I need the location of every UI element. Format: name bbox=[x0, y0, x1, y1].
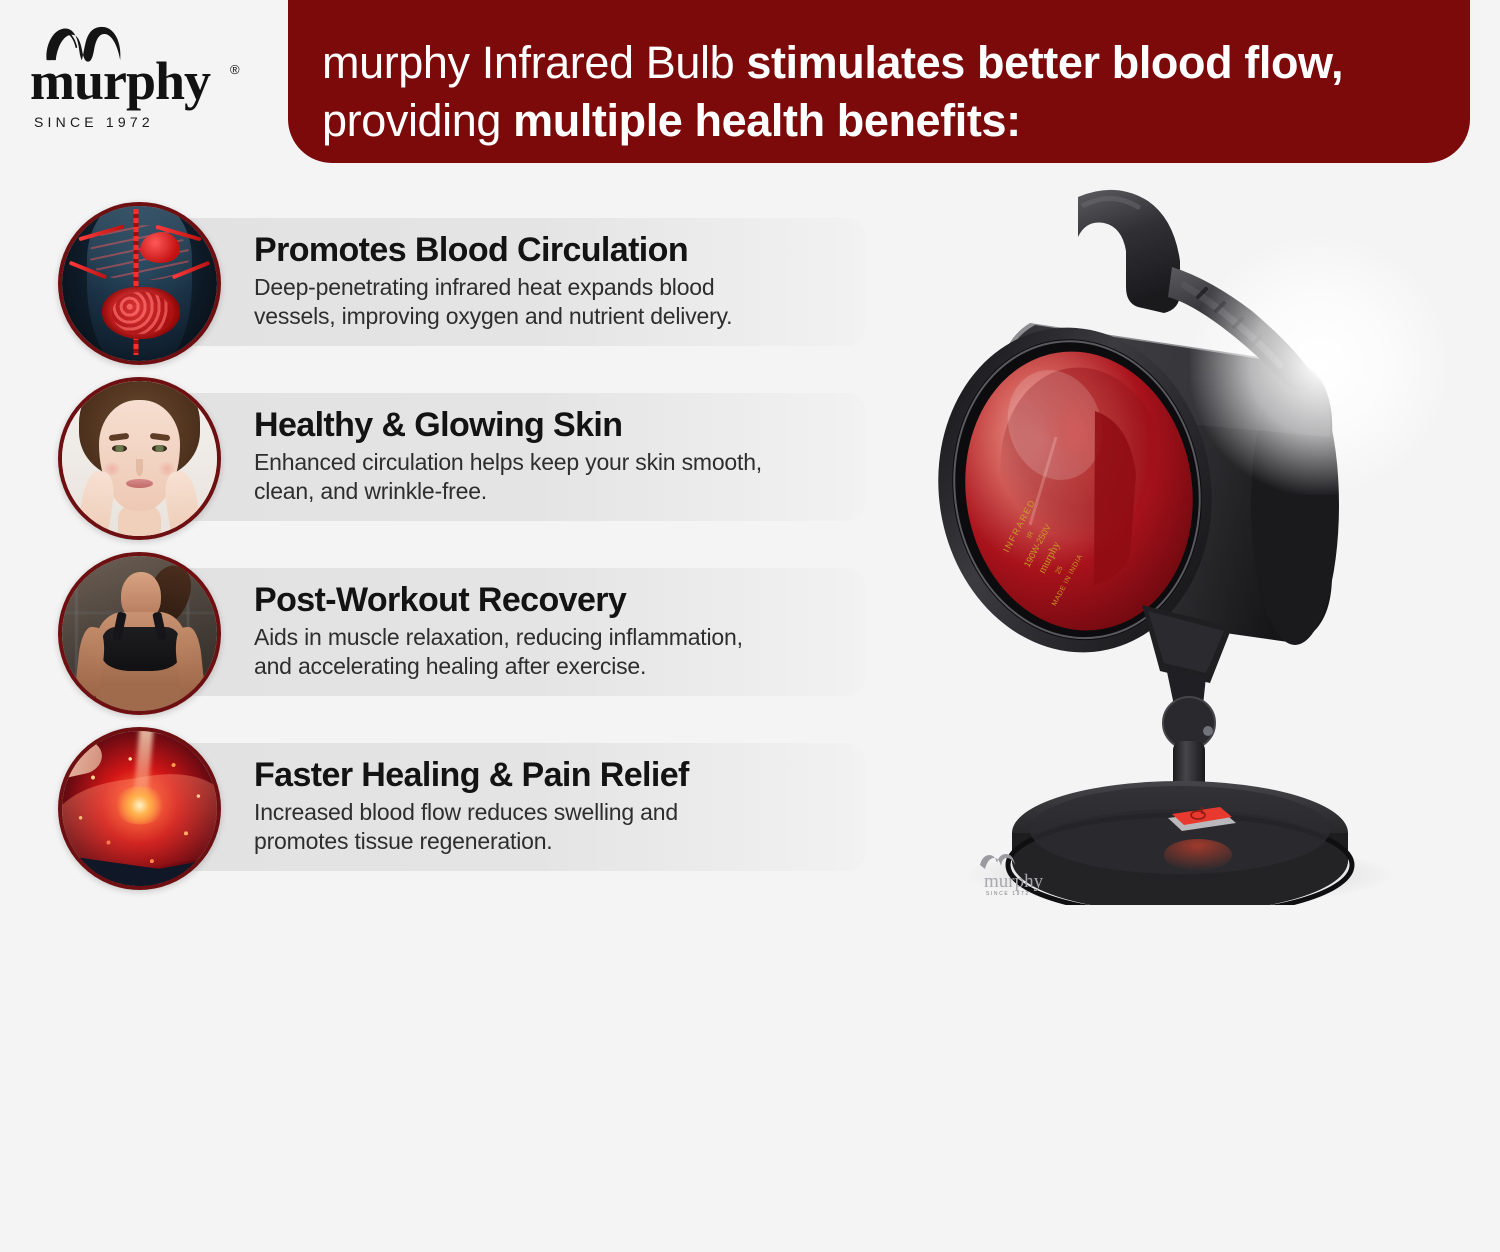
anatomy-circulatory-icon bbox=[62, 206, 217, 361]
benefit-thumbnail-skin bbox=[58, 377, 221, 540]
benefit-thumbnail-anatomy bbox=[58, 202, 221, 365]
benefit-description: Enhanced circulation helps keep your ski… bbox=[254, 448, 839, 506]
base-brand-text: murphy bbox=[984, 871, 1044, 892]
benefit-title: Post-Workout Recovery bbox=[254, 581, 839, 620]
benefit-item-faster-healing-pain-relief: Faster Healing & Pain Relief Increased b… bbox=[0, 721, 880, 896]
gym-athlete-icon bbox=[62, 556, 217, 711]
benefit-description: Aids in muscle relaxation, reducing infl… bbox=[254, 623, 839, 681]
benefit-card: Faster Healing & Pain Relief Increased b… bbox=[130, 743, 865, 871]
benefit-item-post-workout-recovery: Post-Workout Recovery Aids in muscle rel… bbox=[0, 546, 880, 721]
header-line-2-light: providing bbox=[322, 95, 513, 146]
header-line-1: murphy Infrared Bulb stimulates better b… bbox=[322, 34, 1436, 92]
benefit-card: Healthy & Glowing Skin Enhanced circulat… bbox=[130, 393, 865, 521]
benefit-item-healthy-glowing-skin: Healthy & Glowing Skin Enhanced circulat… bbox=[0, 371, 880, 546]
studio-highlight bbox=[1190, 235, 1450, 495]
header-line-2-bold: multiple health benefits: bbox=[513, 95, 1021, 146]
benefit-item-promotes-blood-circulation: Promotes Blood Circulation Deep-penetrat… bbox=[0, 196, 880, 371]
header-line-2: providing multiple health benefits: bbox=[322, 92, 1436, 150]
svg-text:SINCE 1972: SINCE 1972 bbox=[986, 891, 1030, 897]
benefit-thumbnail-gym bbox=[58, 552, 221, 715]
registered-trademark-icon: ® bbox=[230, 62, 240, 77]
header-line-1-light: murphy Infrared Bulb bbox=[322, 37, 746, 88]
benefit-title: Promotes Blood Circulation bbox=[254, 231, 839, 270]
header-line-1-bold: stimulates better blood flow, bbox=[746, 37, 1343, 88]
benefits-list: Promotes Blood Circulation Deep-penetrat… bbox=[0, 196, 880, 896]
benefit-title: Healthy & Glowing Skin bbox=[254, 406, 839, 445]
logo-tagline: SINCE 1972 bbox=[34, 114, 154, 130]
benefit-description: Deep-penetrating infrared heat expands b… bbox=[254, 273, 839, 331]
brand-logo: murphy ® SINCE 1972 bbox=[22, 22, 252, 132]
header-banner: murphy Infrared Bulb stimulates better b… bbox=[288, 0, 1470, 163]
logo-wordmark: murphy bbox=[30, 54, 210, 108]
benefit-title: Faster Healing & Pain Relief bbox=[254, 756, 839, 795]
tilt-bracket bbox=[1142, 605, 1232, 749]
benefit-card: Post-Workout Recovery Aids in muscle rel… bbox=[130, 568, 865, 696]
benefit-description: Increased blood flow reduces swelling an… bbox=[254, 798, 839, 856]
benefit-thumbnail-red-light bbox=[58, 727, 221, 890]
red-light-therapy-icon bbox=[62, 731, 217, 886]
product-image-infrared-lamp: INFRARED IR 190W-250V murphy 25 MADE IN … bbox=[880, 175, 1480, 905]
benefit-card: Promotes Blood Circulation Deep-penetrat… bbox=[130, 218, 865, 346]
woman-face-icon bbox=[62, 381, 217, 536]
